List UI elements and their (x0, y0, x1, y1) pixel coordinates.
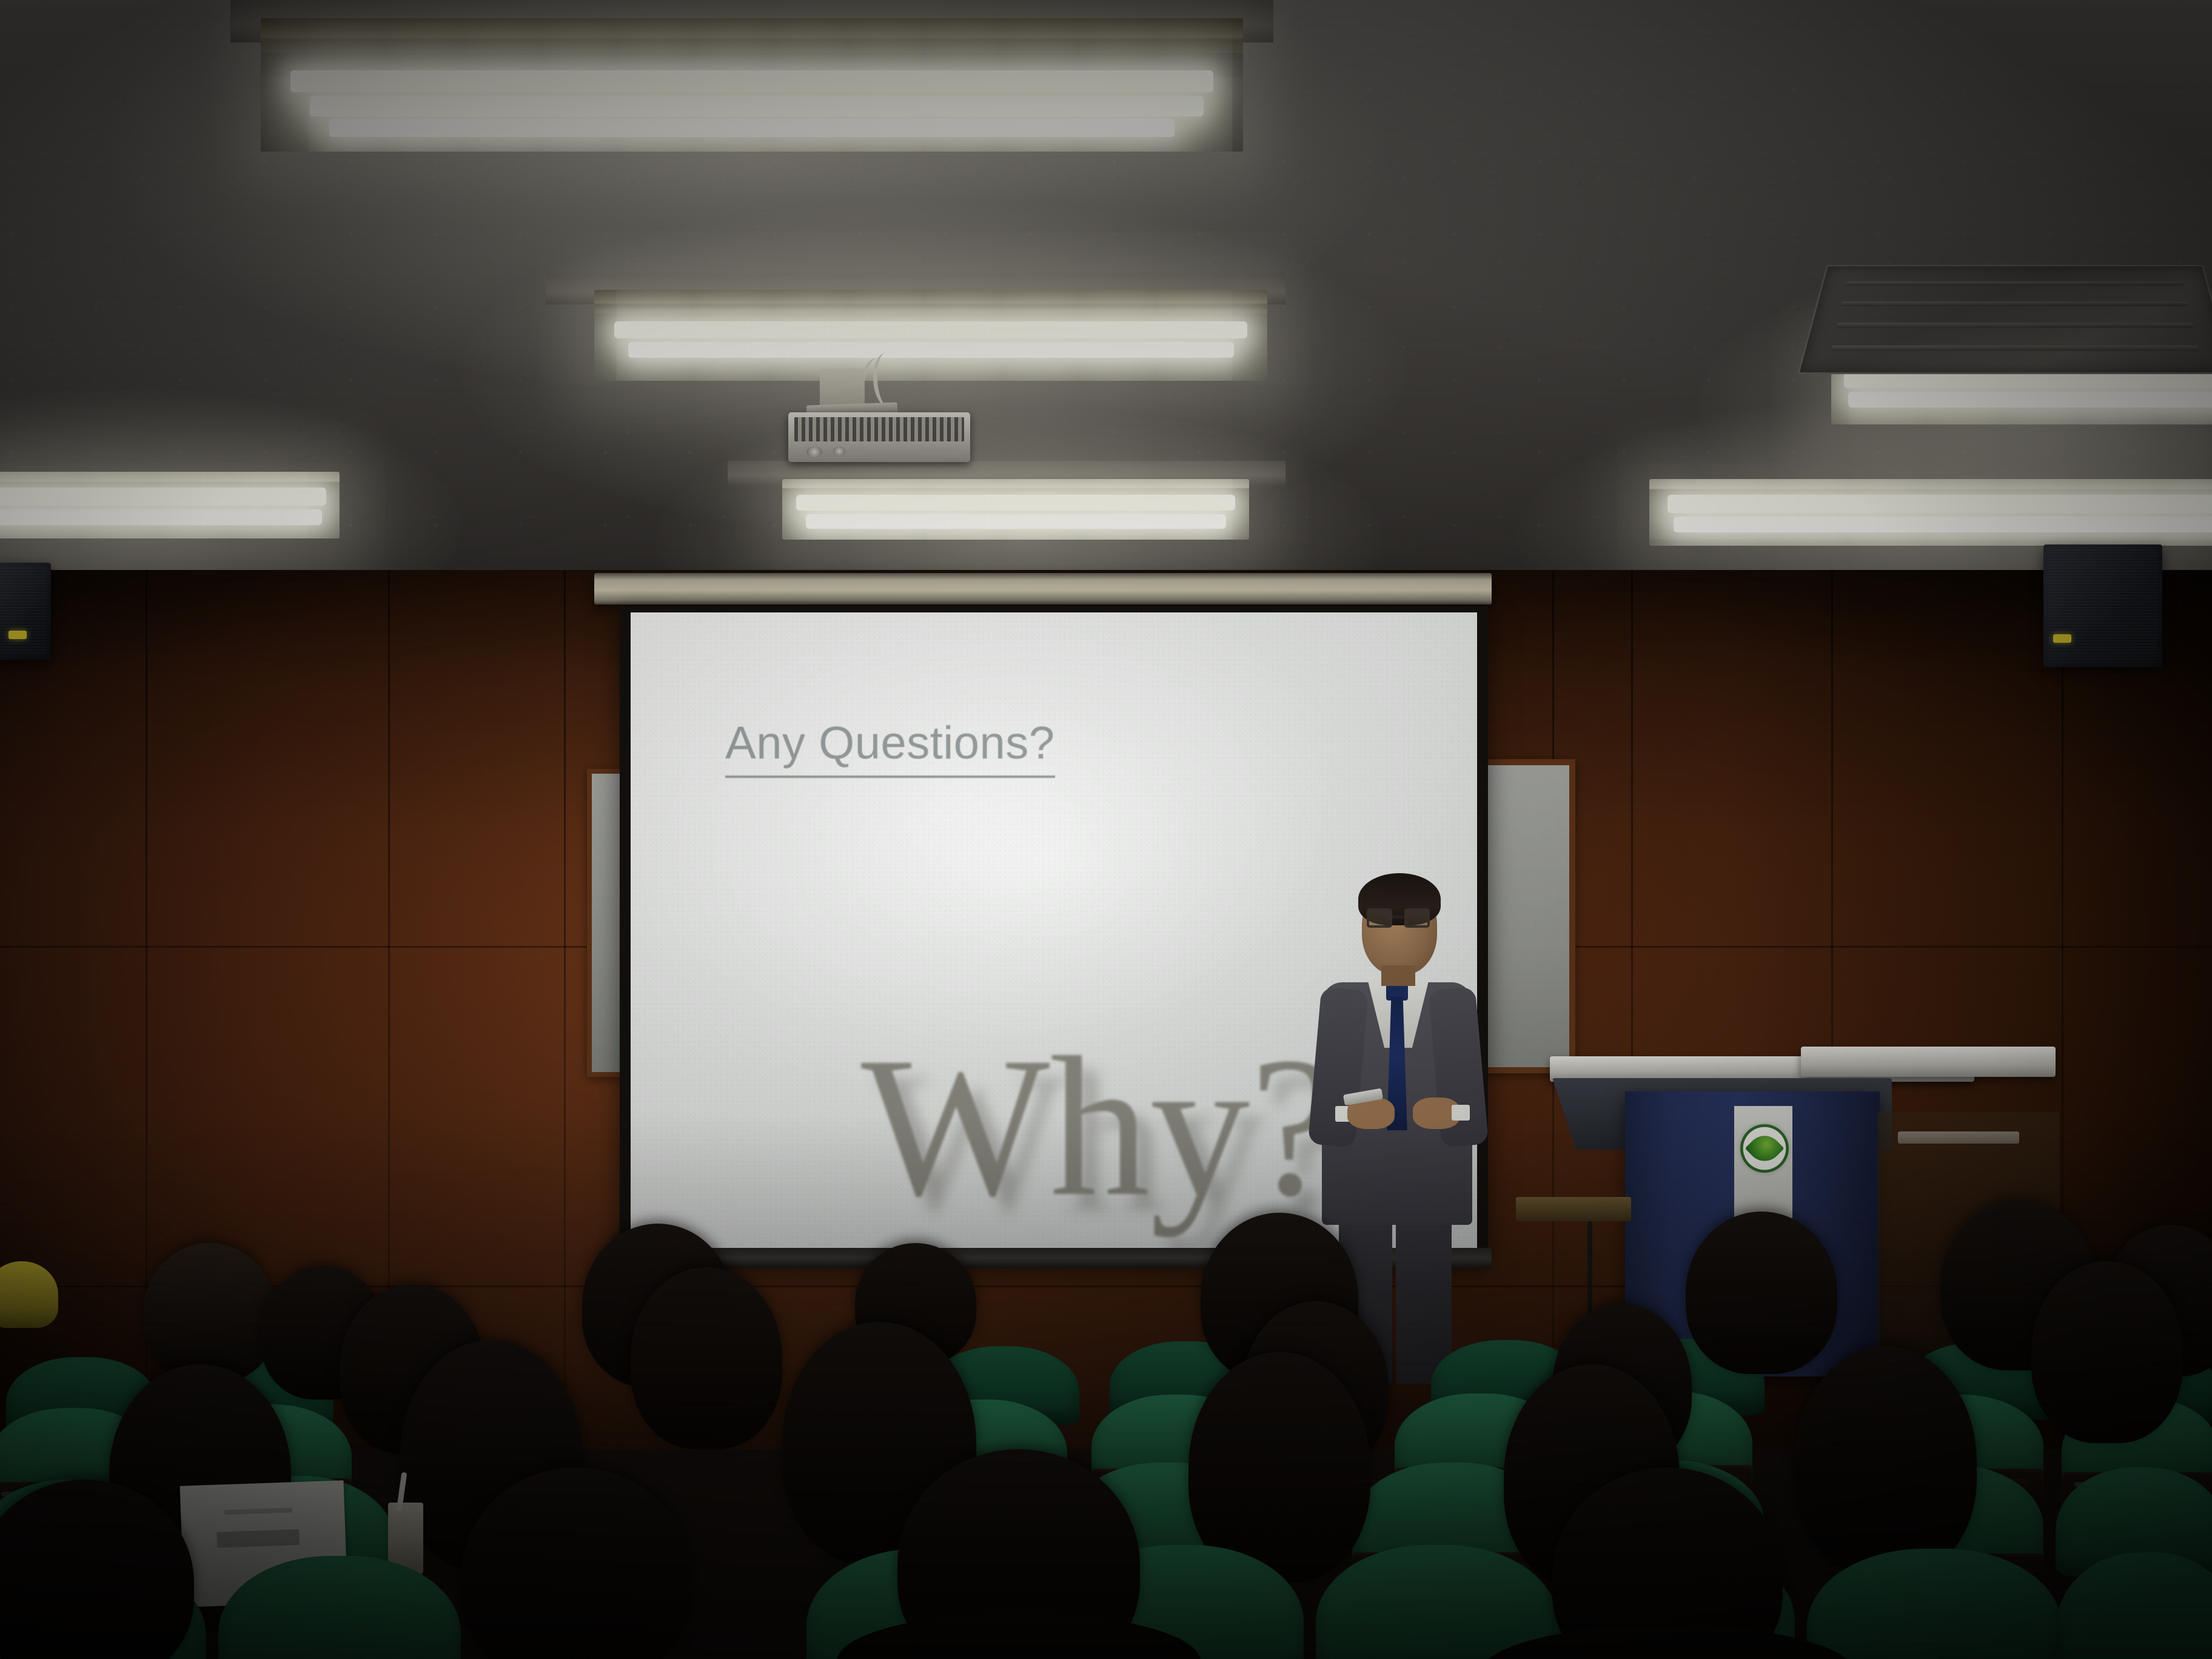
paper-text-line (224, 1507, 292, 1515)
fluorescent-tube (329, 119, 1174, 137)
fluorescent-tube (1848, 392, 2212, 407)
lectern-side-shelf (1516, 1197, 1631, 1221)
fixture-shade (261, 18, 1243, 53)
paper-text-line (216, 1529, 300, 1548)
speaker-grille (0, 568, 46, 655)
presenter-neck (1381, 965, 1415, 986)
fluorescent-tube (0, 488, 326, 506)
glasses-lens-right (1404, 908, 1430, 928)
fluorescent-tube (614, 321, 1247, 338)
fluorescent-tube (0, 509, 322, 525)
audience-seating (0, 1249, 2212, 1659)
lectern-av-panel (1898, 1131, 2019, 1144)
light-fixture-mid-left (594, 290, 1267, 381)
speaker-grille (2048, 549, 2157, 662)
audience-head (1795, 1346, 1977, 1577)
glasses-lens-left (1367, 908, 1392, 928)
vent-slat (1841, 301, 2188, 306)
speaker-indicator-light (2053, 634, 2071, 643)
audience-head (2031, 1261, 2183, 1443)
projector-mount (820, 369, 865, 409)
presenter-shirt-cuff-right (1452, 1105, 1470, 1121)
fluorescent-tube (1674, 517, 2212, 532)
fluorescent-tube (796, 495, 1235, 511)
fixture-shade (594, 290, 1267, 313)
projector-body (788, 412, 970, 462)
light-fixture-center (782, 479, 1249, 540)
fluorescent-tube (628, 342, 1234, 358)
hvac-vent (1797, 265, 2212, 374)
projector-vent-grille (794, 417, 964, 441)
ceiling-projector (788, 369, 976, 472)
leaf-emblem-icon (1744, 1128, 1785, 1168)
lectern-top-surface-right (1801, 1047, 2056, 1077)
audience-head (631, 1267, 782, 1449)
vent-slat (1831, 346, 2199, 351)
fluorescent-tube (290, 70, 1214, 92)
vent-slat (1846, 281, 2184, 286)
fluorescent-tube (806, 514, 1226, 529)
fluorescent-tube (310, 96, 1204, 116)
wall-speaker-left (0, 563, 51, 660)
lecture-hall-photo: Any Questions? Why? (0, 0, 2212, 1659)
light-fixture-front-left (261, 18, 1243, 152)
projector-lens (806, 446, 822, 457)
audience-yellow-cap (0, 1261, 58, 1328)
projector-focus-dial (833, 446, 845, 456)
audience-head (1686, 1212, 1837, 1374)
audience-head (143, 1243, 276, 1382)
institution-logo (1740, 1124, 1789, 1173)
screen-roller-housing (594, 573, 1492, 605)
light-fixture-right-front (1649, 479, 2212, 546)
light-fixture-left-edge (0, 472, 340, 538)
wall-speaker-right (2043, 545, 2162, 667)
fluorescent-tube (1667, 495, 2212, 513)
speaker-indicator-light (8, 631, 27, 639)
vent-slat (1836, 323, 2194, 327)
